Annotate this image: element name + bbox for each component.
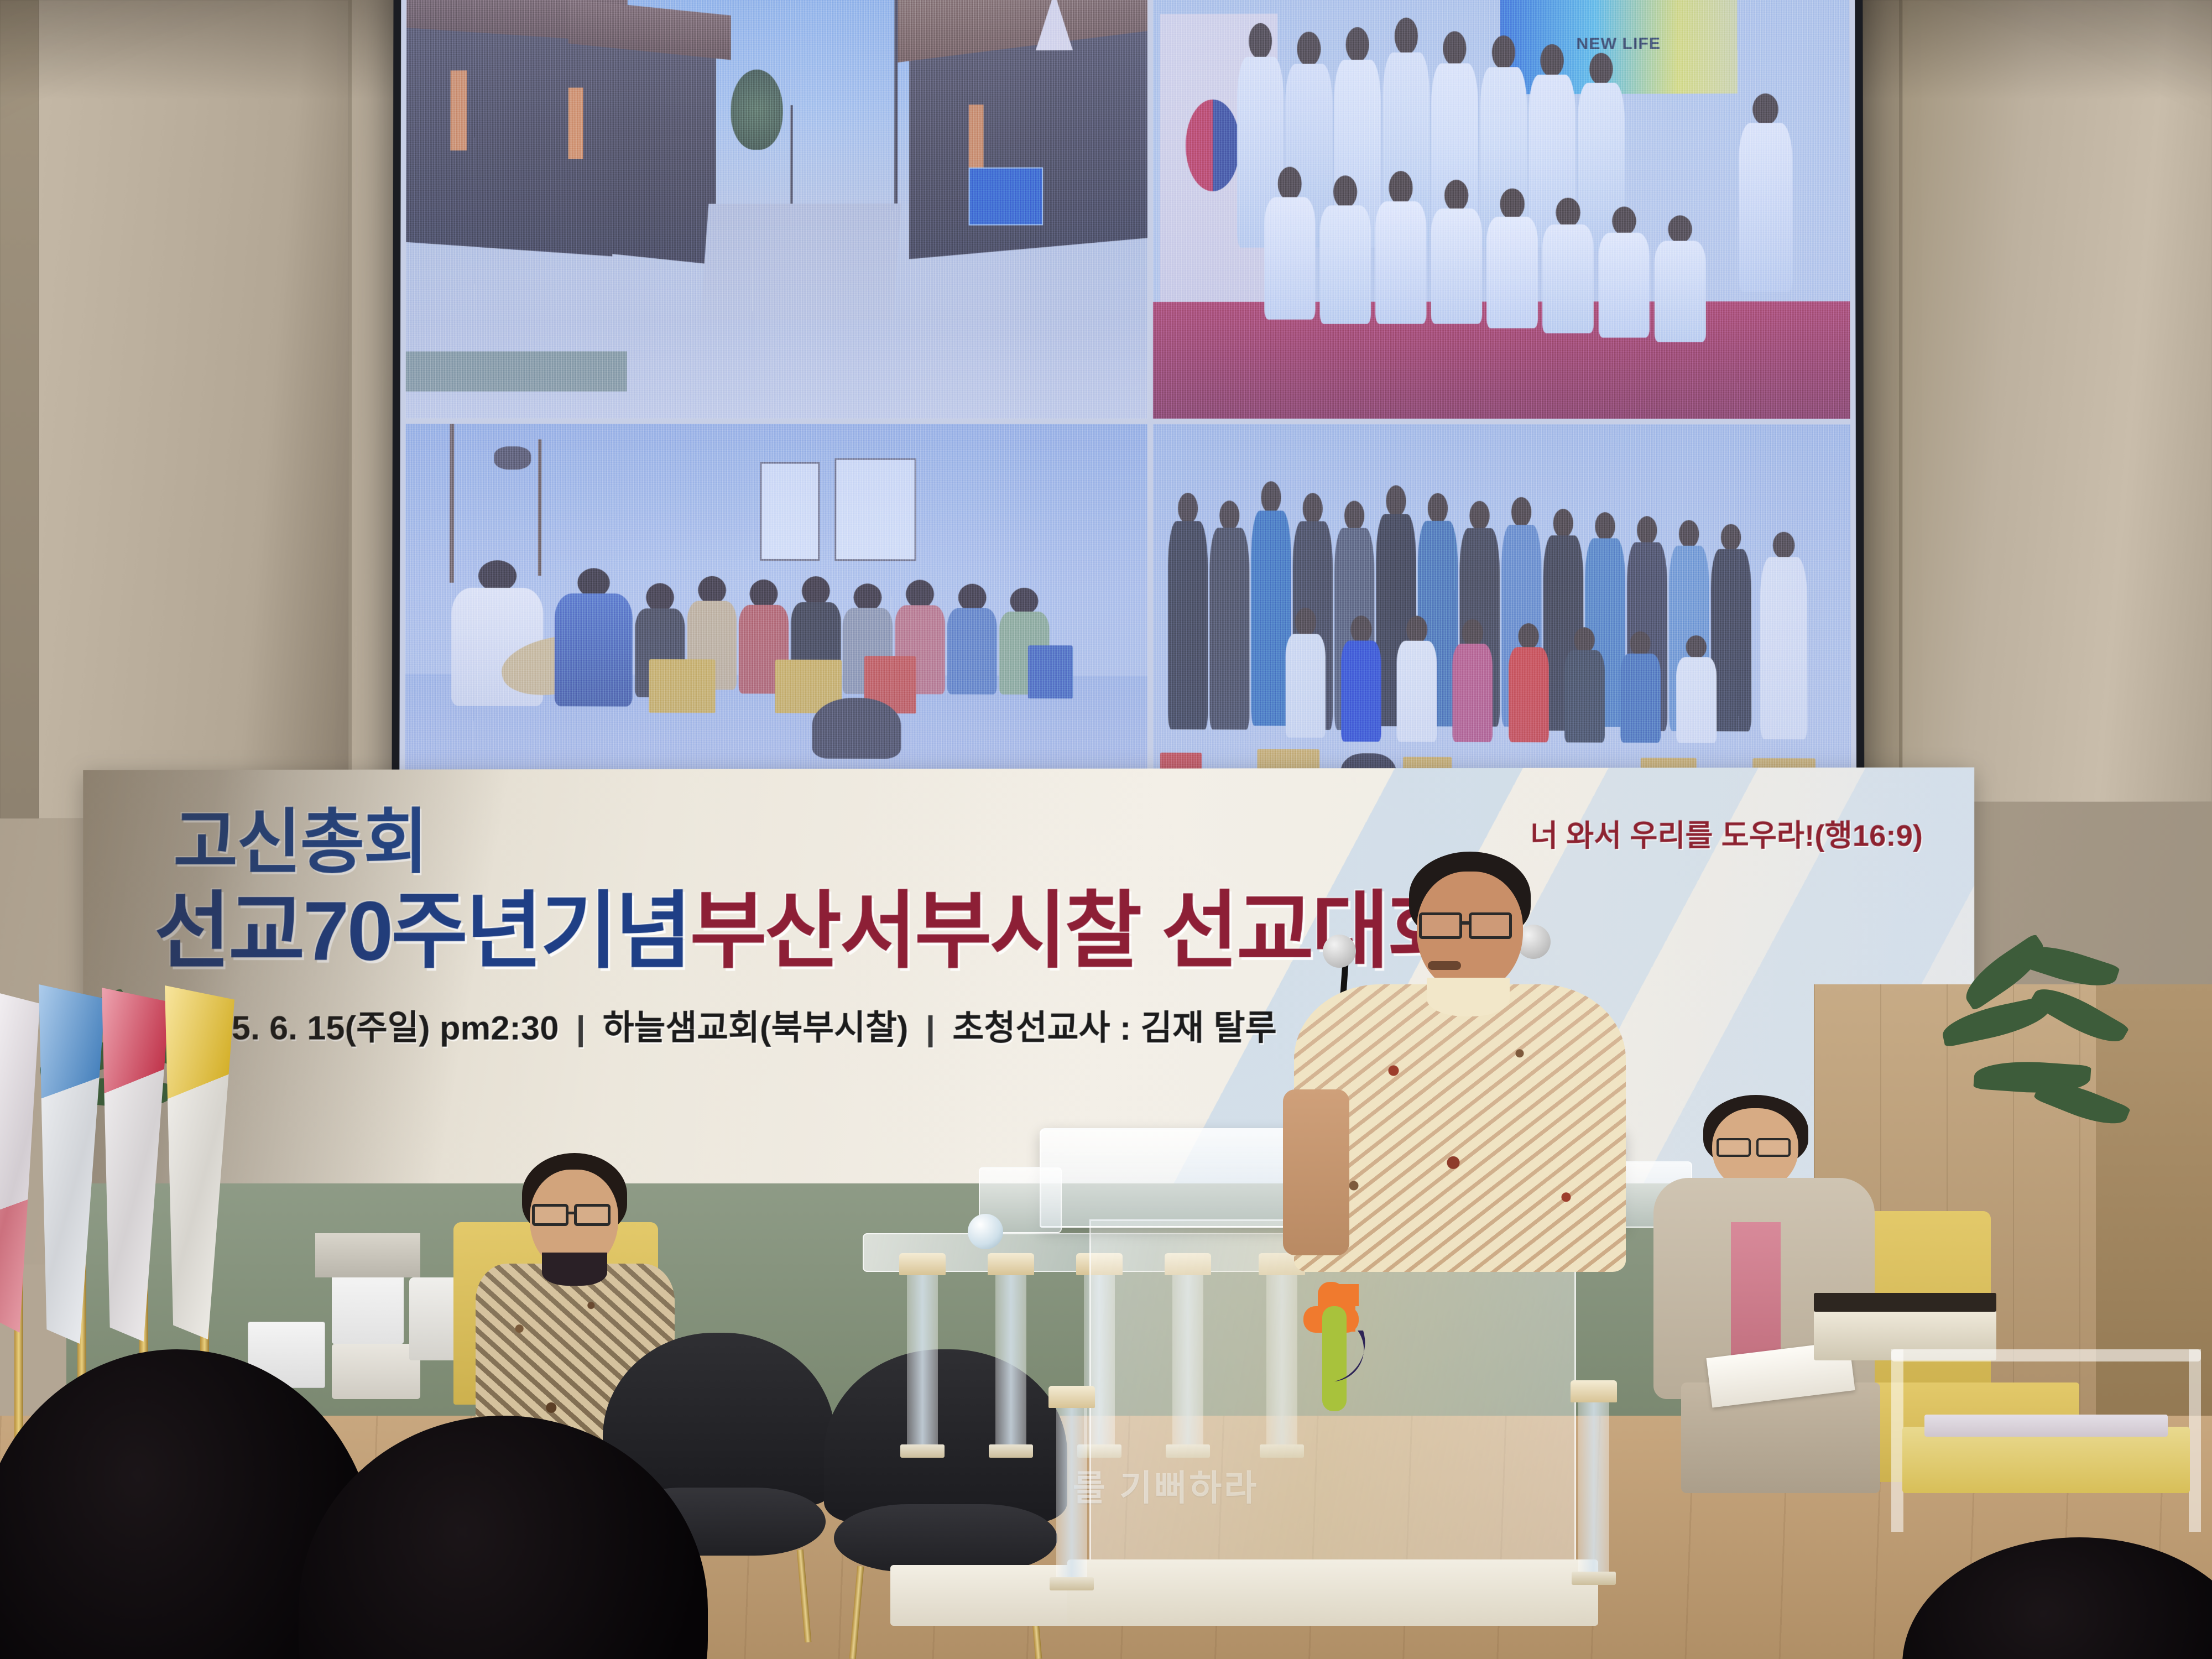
church-cross-logo xyxy=(1275,1277,1391,1421)
slide-photo-guitar-worship xyxy=(405,424,1147,806)
plant-right xyxy=(1936,951,2168,1189)
seated-man-left-glasses-lens-right xyxy=(574,1204,611,1226)
seated-woman-blouse xyxy=(1731,1222,1781,1366)
wall-groove-right xyxy=(1899,0,1902,774)
wall-panel-left-inner xyxy=(39,0,348,818)
seated-man-left-glasses-bridge xyxy=(568,1212,575,1214)
speaker-arm-left xyxy=(1283,1089,1349,1255)
glass-column-1 xyxy=(907,1272,938,1454)
side-cabinet xyxy=(315,1233,420,1277)
banner-title-line2: 선교70주년기념부산서부시찰 선교대회 xyxy=(154,862,1463,984)
banner-venue: 하늘샘교회(북부시찰) xyxy=(603,1009,909,1047)
slide-photo-large-group xyxy=(1153,424,1851,808)
projection-screen-content: NEW LIFE xyxy=(399,0,1856,815)
projection-screen: NEW LIFE xyxy=(392,0,1864,822)
speaker-glasses-lens-left xyxy=(1419,912,1462,939)
banner-separator-2: | xyxy=(918,1009,943,1047)
speaker-mouth xyxy=(1428,961,1461,970)
side-table-item xyxy=(332,1344,420,1399)
pulpit-glass-knob-left xyxy=(968,1214,1003,1249)
seated-woman-right xyxy=(1648,1095,1880,1471)
flag-blue xyxy=(39,984,105,1344)
flag-red xyxy=(102,988,169,1342)
photo-scene: NEW LIFE xyxy=(0,0,2212,1659)
glass-column-2 xyxy=(995,1272,1026,1454)
banner-separator-1: | xyxy=(568,1009,593,1047)
speaker-at-pulpit xyxy=(1288,852,1631,1272)
seated-woman-glasses-lens-right xyxy=(1756,1138,1791,1157)
flag-pink xyxy=(0,990,40,1333)
slide-photo-village-street xyxy=(406,0,1147,419)
wall-panel-left-outer xyxy=(0,0,39,818)
banner-title-blue: 선교70주년기념 xyxy=(154,884,690,978)
speaker-collar xyxy=(1427,978,1510,1016)
seated-man-left-collar xyxy=(542,1253,607,1286)
speaker-glasses-bridge xyxy=(1462,921,1470,925)
banner-scripture-verse: 너 와서 우리를 도우라!(행16:9) xyxy=(1530,811,1923,855)
flag-yellow xyxy=(165,985,234,1339)
wall-panel-right-outer xyxy=(1902,0,2212,802)
slide-photo-youth-group: NEW LIFE xyxy=(1153,0,1850,419)
banner-speaker: 초청선교사 : 김재 xyxy=(952,1009,1204,1047)
wall-groove-left xyxy=(348,0,352,774)
bible-cover xyxy=(1814,1293,1996,1312)
banner-time: pm2:30 xyxy=(440,1009,559,1047)
banner-info-line: 2025. 6. 15(주일) pm2:30 | 하늘샘교회(북부시찰) | 초… xyxy=(175,1000,1276,1050)
speaker-glasses-lens-right xyxy=(1469,912,1512,939)
seated-man-left-glasses-lens-left xyxy=(532,1204,568,1226)
seated-woman-glasses-lens-left xyxy=(1717,1138,1751,1157)
banner-mission-field: 탈루 xyxy=(1213,1009,1276,1047)
pulpit-column-left xyxy=(1056,1405,1087,1587)
tissue-box xyxy=(332,1266,404,1344)
